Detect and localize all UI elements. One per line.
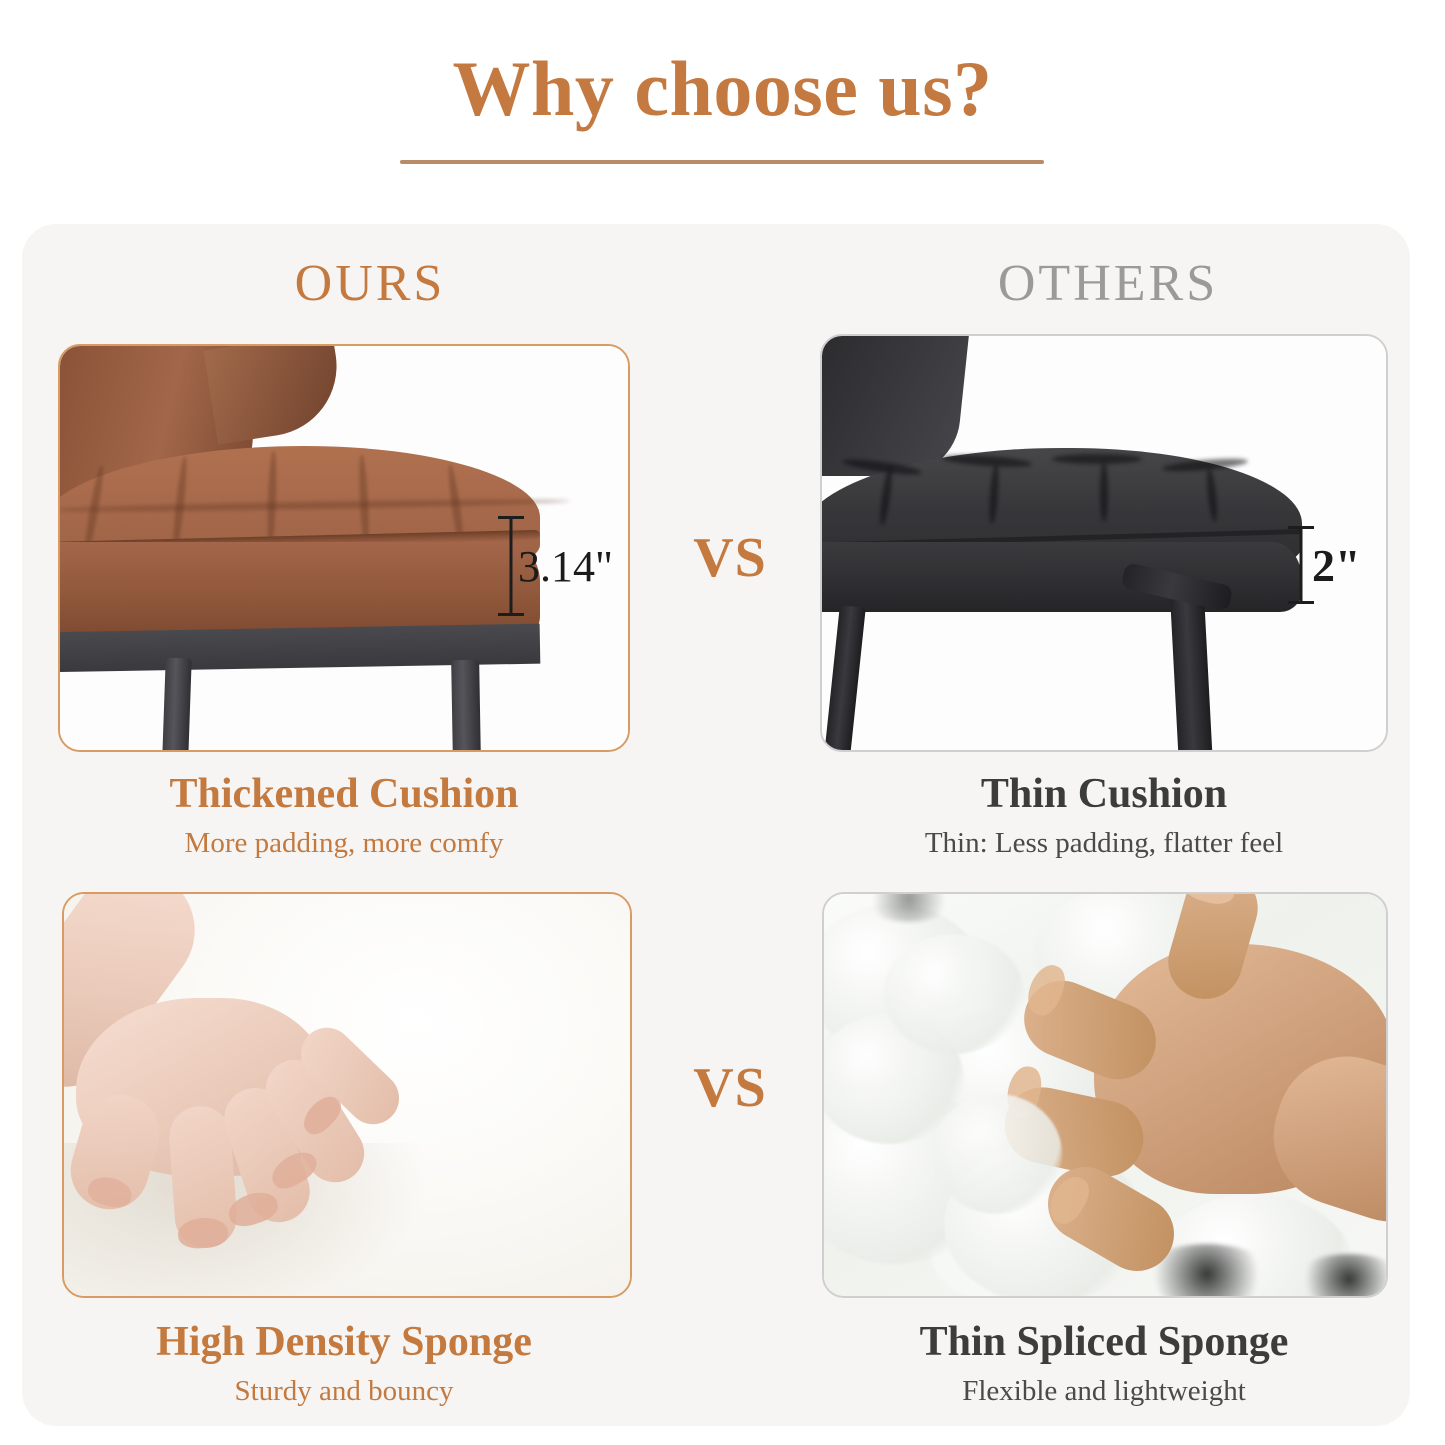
- foam-press-scene: [64, 894, 630, 1296]
- caption-title: Thin Spliced Sponge: [820, 1318, 1388, 1366]
- chair-leg: [451, 660, 481, 750]
- tuft-line: [1052, 454, 1142, 464]
- caption-title: Thickened Cushion: [58, 770, 630, 818]
- caption-subtitle: More padding, more comfy: [58, 825, 630, 861]
- image-card-thin-spliced-sponge: [822, 892, 1388, 1298]
- caliper-bar: [1300, 526, 1303, 604]
- caliper-cap-bottom: [1288, 601, 1314, 604]
- caption-thin-cushion: Thin Cushion Thin: Less padding, flatter…: [820, 770, 1388, 862]
- image-card-high-density-sponge: [62, 892, 632, 1298]
- title-underline-rule: [400, 160, 1044, 164]
- caption-thin-spliced-sponge: Thin Spliced Sponge Flexible and lightwe…: [820, 1318, 1388, 1410]
- chair-leg: [162, 658, 191, 750]
- caption-thickened-cushion: Thickened Cushion More padding, more com…: [58, 770, 630, 862]
- column-header-others: OTHERS: [818, 258, 1398, 310]
- cushion-height-caliper-others: [1288, 526, 1314, 604]
- fiber-clump-foreground: [884, 934, 1024, 1054]
- caption-high-density-sponge: High Density Sponge Sturdy and bouncy: [58, 1318, 630, 1410]
- caption-subtitle: Sturdy and bouncy: [58, 1373, 630, 1409]
- tuft-line: [1100, 462, 1108, 522]
- vs-label-row2: VS: [660, 1060, 800, 1116]
- dimension-label-ours: 3.14": [518, 545, 613, 589]
- dimension-label-others: 2": [1312, 543, 1361, 589]
- caption-title: Thin Cushion: [820, 770, 1388, 818]
- vs-label-row1: VS: [660, 530, 800, 586]
- fiberfill-press-scene: [824, 894, 1386, 1296]
- caption-title: High Density Sponge: [58, 1318, 630, 1366]
- caliper-cap-bottom: [498, 613, 524, 616]
- caption-subtitle: Flexible and lightweight: [820, 1373, 1388, 1409]
- hand-on-foam: [64, 894, 504, 1278]
- page-title: Why choose us?: [0, 48, 1445, 130]
- caliper-bar: [510, 516, 513, 616]
- caption-subtitle: Thin: Less padding, flatter feel: [820, 825, 1388, 861]
- column-header-ours: OURS: [60, 258, 680, 310]
- fiber-clump-foreground: [932, 1094, 1062, 1214]
- infographic-page: Why choose us? OURS OTHERS: [0, 0, 1445, 1445]
